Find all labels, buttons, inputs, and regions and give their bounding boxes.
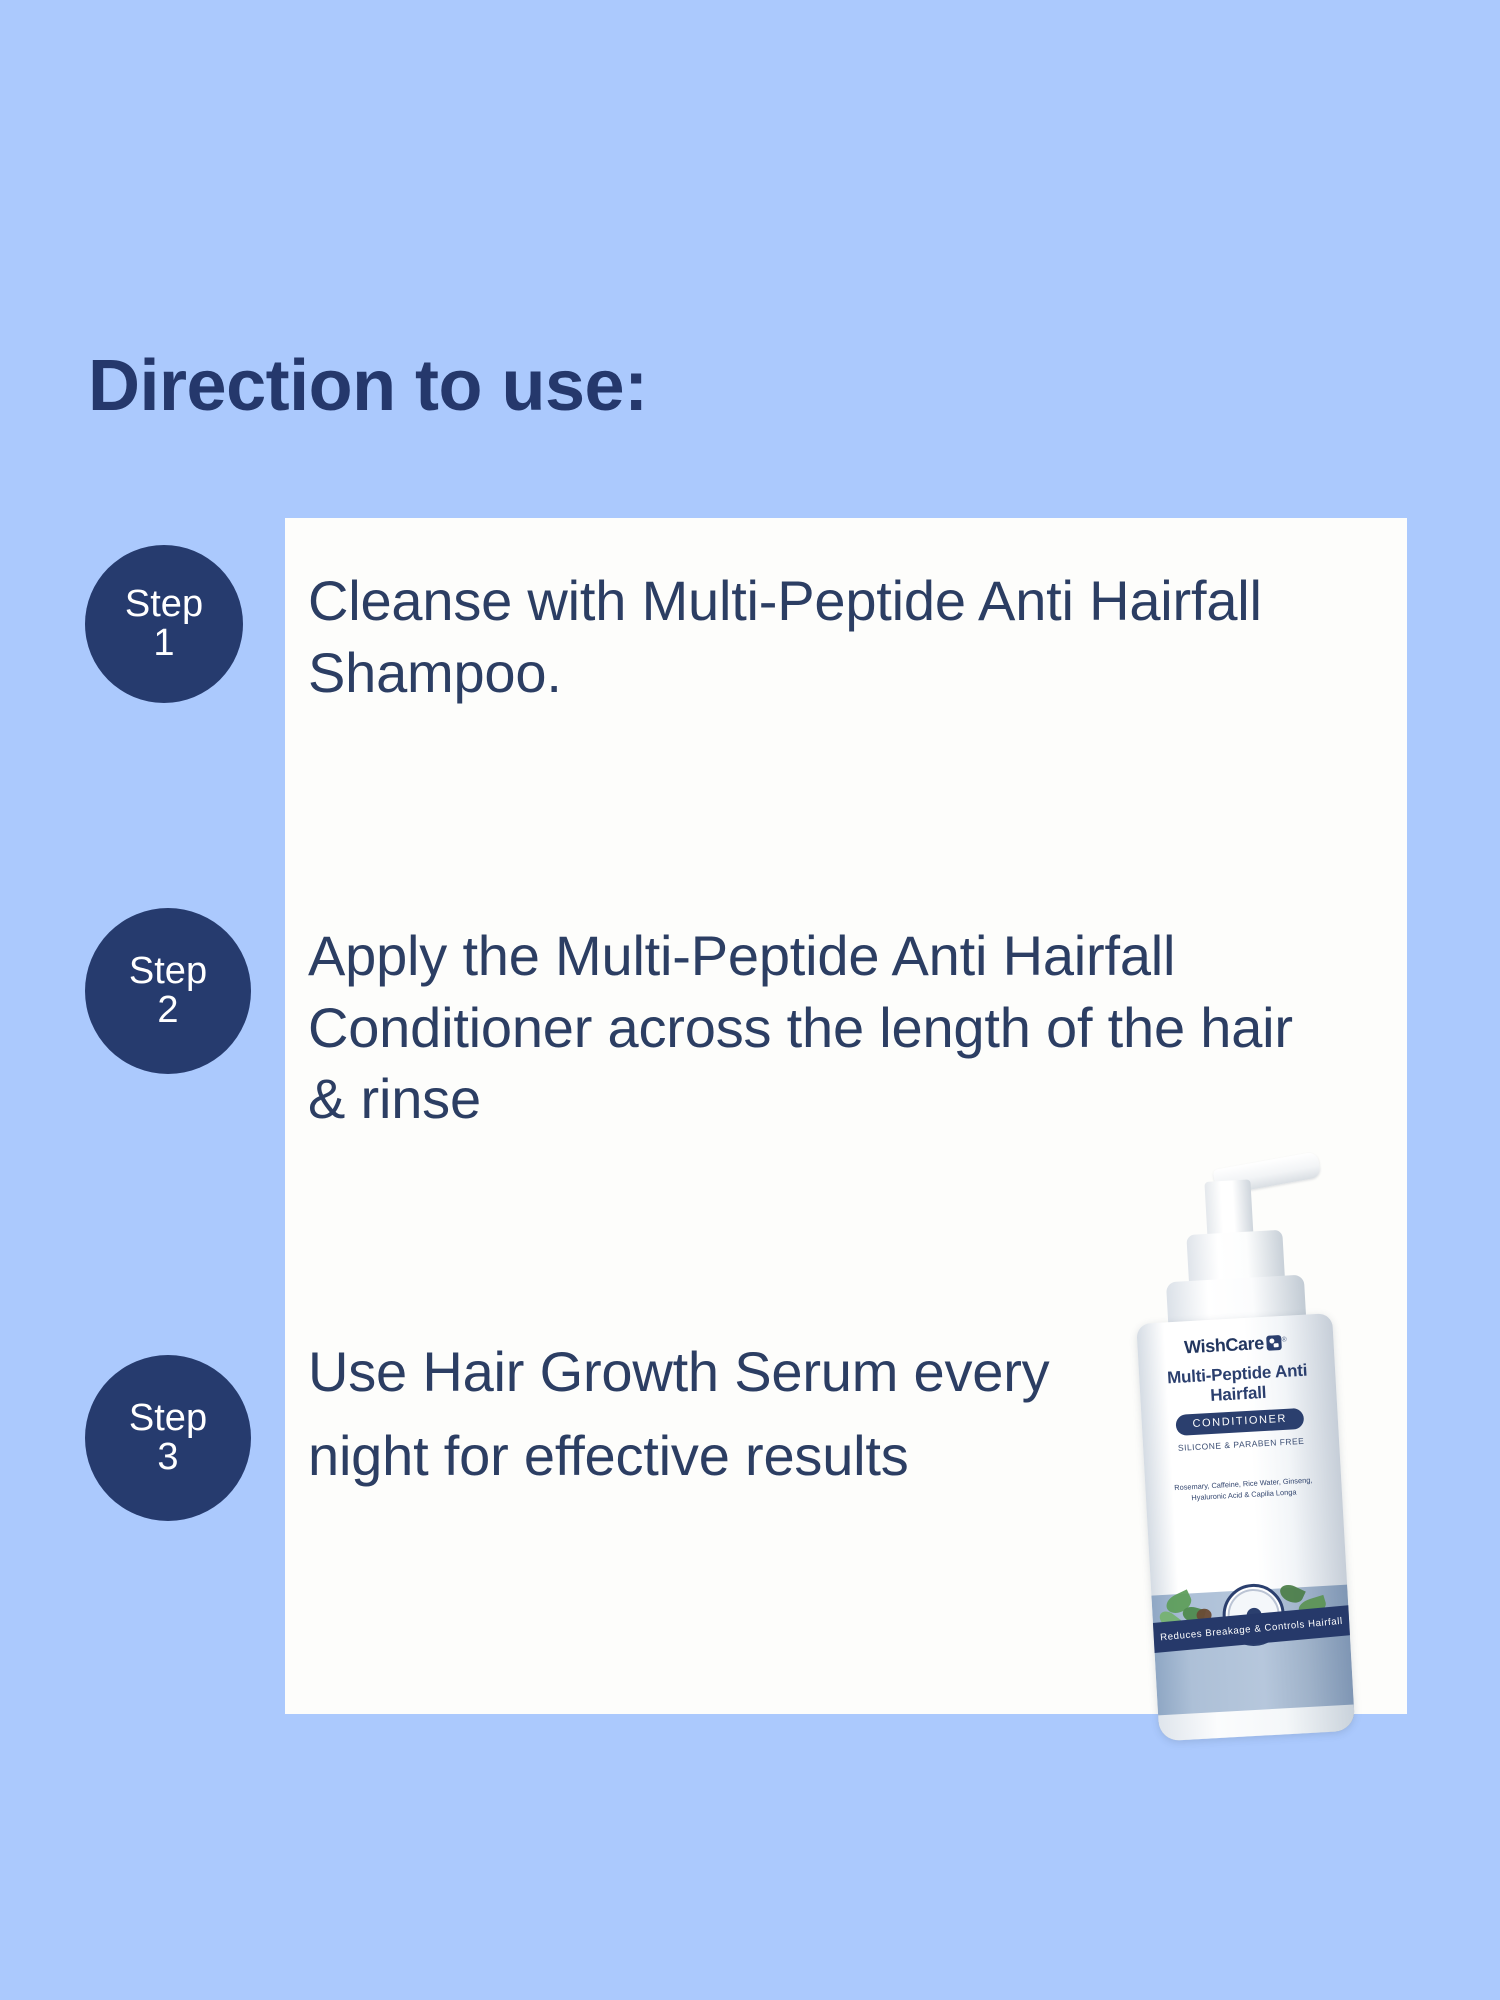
- step-badge-1-number: 1: [153, 624, 174, 663]
- brand-name: WishCare: [1184, 1333, 1265, 1358]
- free-from-claim: SILICONE & PARABEN FREE: [1143, 1434, 1339, 1455]
- bottle-body: WishCare® Multi-Peptide Anti Hairfall CO…: [1136, 1313, 1355, 1741]
- poster-canvas: Direction to use: Step 1 Cleanse with Mu…: [0, 0, 1500, 2000]
- step-text-1: Cleanse with Multi-Peptide Anti Hairfall…: [308, 565, 1348, 708]
- brand-trademark: ®: [1281, 1336, 1287, 1343]
- page-title: Direction to use:: [88, 350, 648, 422]
- step-badge-3: Step 3: [85, 1355, 251, 1521]
- brand-logo-icon: [1266, 1335, 1282, 1351]
- step-badge-1: Step 1: [85, 545, 243, 703]
- product-type-badge: CONDITIONER: [1175, 1408, 1305, 1436]
- step-text-2: Apply the Multi-Peptide Anti Hairfall Co…: [308, 920, 1318, 1135]
- step-badge-2-number: 2: [157, 991, 178, 1030]
- step-badge-3-word: Step: [129, 1399, 207, 1438]
- ingredient-list: Rosemary, Caffeine, Rice Water, Ginseng,…: [1145, 1474, 1342, 1506]
- step-text-3: Use Hair Growth Serum every night for ef…: [308, 1330, 1108, 1498]
- step-badge-2: Step 2: [85, 908, 251, 1074]
- product-label: WishCare® Multi-Peptide Anti Hairfall CO…: [1137, 1329, 1342, 1506]
- step-badge-2-word: Step: [129, 952, 207, 991]
- step-badge-3-number: 3: [157, 1438, 178, 1477]
- brand-row: WishCare®: [1137, 1329, 1334, 1361]
- step-badge-1-word: Step: [125, 585, 203, 624]
- product-bottle-image: WishCare® Multi-Peptide Anti Hairfall CO…: [1127, 1148, 1459, 1754]
